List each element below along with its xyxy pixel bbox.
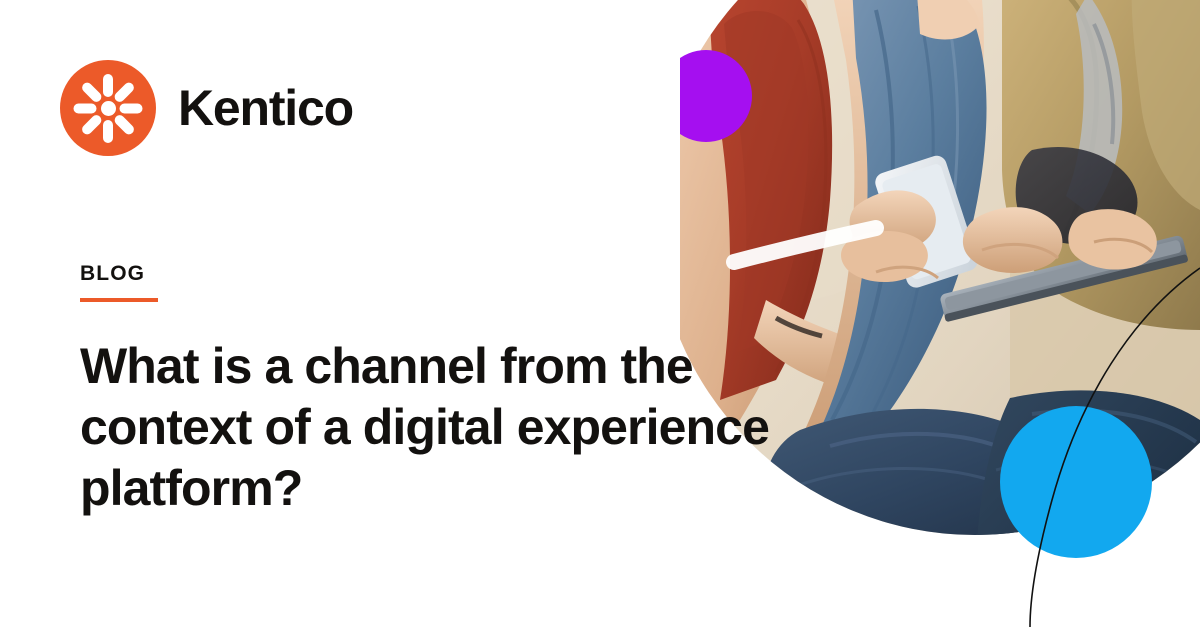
eyebrow-label: BLOG (80, 263, 158, 284)
brand-wordmark: Kentico (178, 83, 353, 133)
artwork-region (680, 0, 1200, 627)
brand-logo[interactable]: Kentico (60, 60, 353, 156)
headline-line-2: context of a digital experience (80, 397, 800, 458)
blog-social-card: Kentico BLOG What is a channel from the … (0, 0, 1200, 627)
eyebrow: BLOG (80, 263, 158, 302)
headline-line-1: What is a channel from the (80, 336, 800, 397)
thin-arc-line-overlay (680, 0, 1200, 627)
headline-line-3: platform? (80, 458, 800, 519)
page-title: What is a channel from the context of a … (80, 336, 800, 519)
kentico-starburst-icon (60, 60, 156, 156)
logo-center-dot (101, 101, 116, 116)
eyebrow-underline (80, 298, 158, 302)
